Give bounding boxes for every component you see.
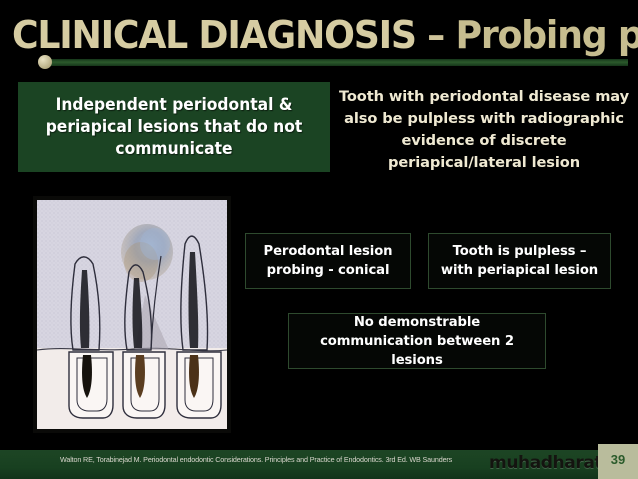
divider-bar <box>48 59 628 66</box>
page-number-badge: 39 <box>598 444 638 479</box>
info-box-text: Perodontal lesion probing - conical <box>246 242 410 280</box>
info-box-perodontal-lesion-probing: Perodontal lesion probing - conical <box>245 233 411 289</box>
slide-root: CLINICAL DIAGNOSIS – Probing patterns In… <box>0 0 638 479</box>
footer-citation: Walton RE, Torabinejad M. Periodontal en… <box>60 454 530 465</box>
page-title-separator: – <box>416 13 456 57</box>
page-title: CLINICAL DIAGNOSIS – Probing patterns <box>12 14 604 56</box>
right-header-text: Tooth with periodontal disease may also … <box>336 86 632 174</box>
info-box-tooth-is-pulpless: Tooth is pulpless – with periapical lesi… <box>428 233 611 289</box>
info-box-text: Tooth is pulpless – with periapical lesi… <box>429 242 610 280</box>
clinical-figure <box>33 196 231 433</box>
dental-illustration-svg <box>37 200 227 429</box>
title-area: CLINICAL DIAGNOSIS – Probing patterns <box>0 14 638 58</box>
page-number: 39 <box>611 452 625 471</box>
left-callout-box: Independent periodontal & periapical les… <box>18 82 330 172</box>
clinical-figure-image <box>37 200 227 429</box>
info-box-text: No demonstrable communication between 2 … <box>289 313 545 370</box>
page-title-main: CLINICAL DIAGNOSIS <box>12 13 416 57</box>
info-box-no-demonstrable-communication: No demonstrable communication between 2 … <box>288 313 546 369</box>
left-callout-text: Independent periodontal & periapical les… <box>27 94 320 160</box>
page-title-subtitle: Probing patterns <box>455 13 638 57</box>
divider-bullet-icon <box>38 55 52 69</box>
